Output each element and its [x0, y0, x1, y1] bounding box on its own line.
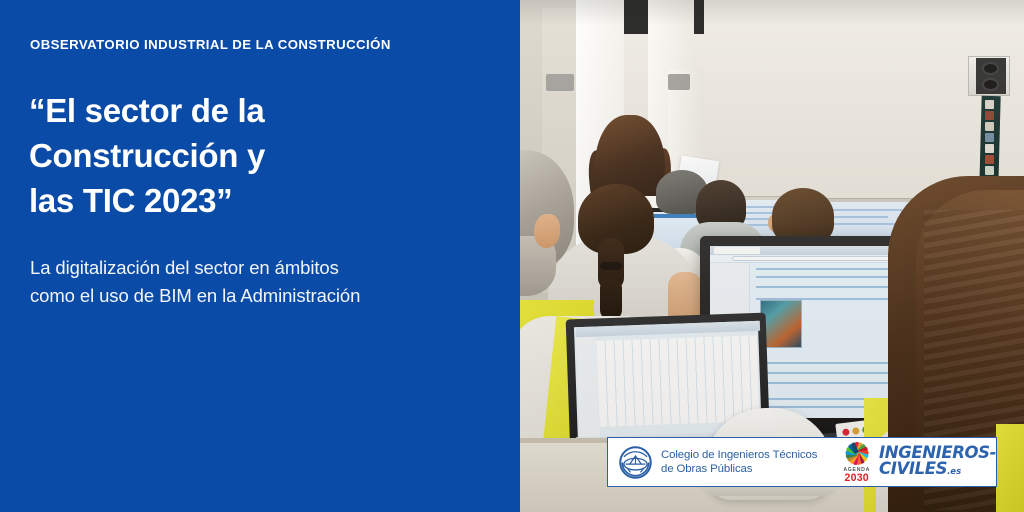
eyebrow-label: OBSERVATORIO INDUSTRIAL DE LA CONSTRUCCI… [30, 37, 391, 52]
spreadsheet-grid [597, 335, 760, 427]
speaker-cone-top [982, 62, 999, 75]
citop-logo[interactable]: Colegio de Ingenieros Técnicos de Obras … [608, 446, 817, 479]
citop-name: Colegio de Ingenieros Técnicos de Obras … [661, 448, 817, 476]
strip-icon [985, 100, 994, 109]
wall-bracket-left [546, 74, 574, 91]
logo-bar: Colegio de Ingenieros Técnicos de Obras … [607, 437, 997, 487]
classroom-photo [520, 0, 1024, 512]
subtitle-line-1: La digitalización del sector en ámbitos [30, 254, 480, 282]
ingenieros-civiles-logo[interactable]: INGENIEROS- CIVILES.es [879, 445, 996, 480]
ceiling-shadow [520, 0, 1024, 26]
strip-icon [985, 133, 994, 142]
speaker-cone-bottom [982, 78, 999, 91]
ic-tld: .es [947, 467, 961, 477]
headline-line-3: las TIC 2023” [29, 178, 489, 223]
foreground-man-ear [534, 214, 560, 248]
subtitle-line-2: como el uso de BIM en la Administración [30, 282, 480, 310]
citop-line-1: Colegio de Ingenieros Técnicos [661, 448, 817, 462]
wall-bracket-center [668, 74, 690, 90]
agenda-year: 2030 [843, 473, 870, 484]
text-panel: OBSERVATORIO INDUSTRIAL DE LA CONSTRUCCI… [0, 0, 520, 512]
strip-icon [985, 155, 994, 164]
browser-tab [714, 247, 760, 254]
page-title: “El sector de la Construcción y las TIC … [29, 88, 489, 223]
laptop-sidebar [576, 336, 600, 445]
headline-line-2: Construcción y [29, 133, 489, 178]
subtitle: La digitalización del sector en ámbitos … [30, 254, 480, 310]
safety-vest-yellow-right [996, 424, 1024, 512]
ingenieros-civiles-line-2: CIVILES.es [879, 461, 996, 480]
strip-icon [985, 111, 994, 120]
ic-wordmark: CIVILES [879, 459, 947, 478]
sdg-color-wheel-icon [844, 441, 869, 466]
citop-line-2: de Obras Públicas [661, 462, 817, 476]
headline-line-1: “El sector de la [29, 88, 489, 133]
hair-tie [600, 262, 622, 270]
citop-seal-icon [619, 446, 652, 479]
strip-icon [985, 166, 994, 175]
attendee-ponytail-lower [600, 278, 622, 320]
strip-icon [985, 122, 994, 131]
promotional-banner: OBSERVATORIO INDUSTRIAL DE LA CONSTRUCCI… [0, 0, 1024, 512]
agenda-2030-logo[interactable]: AGENDA 2030 [843, 441, 870, 484]
strip-icon [985, 144, 994, 153]
